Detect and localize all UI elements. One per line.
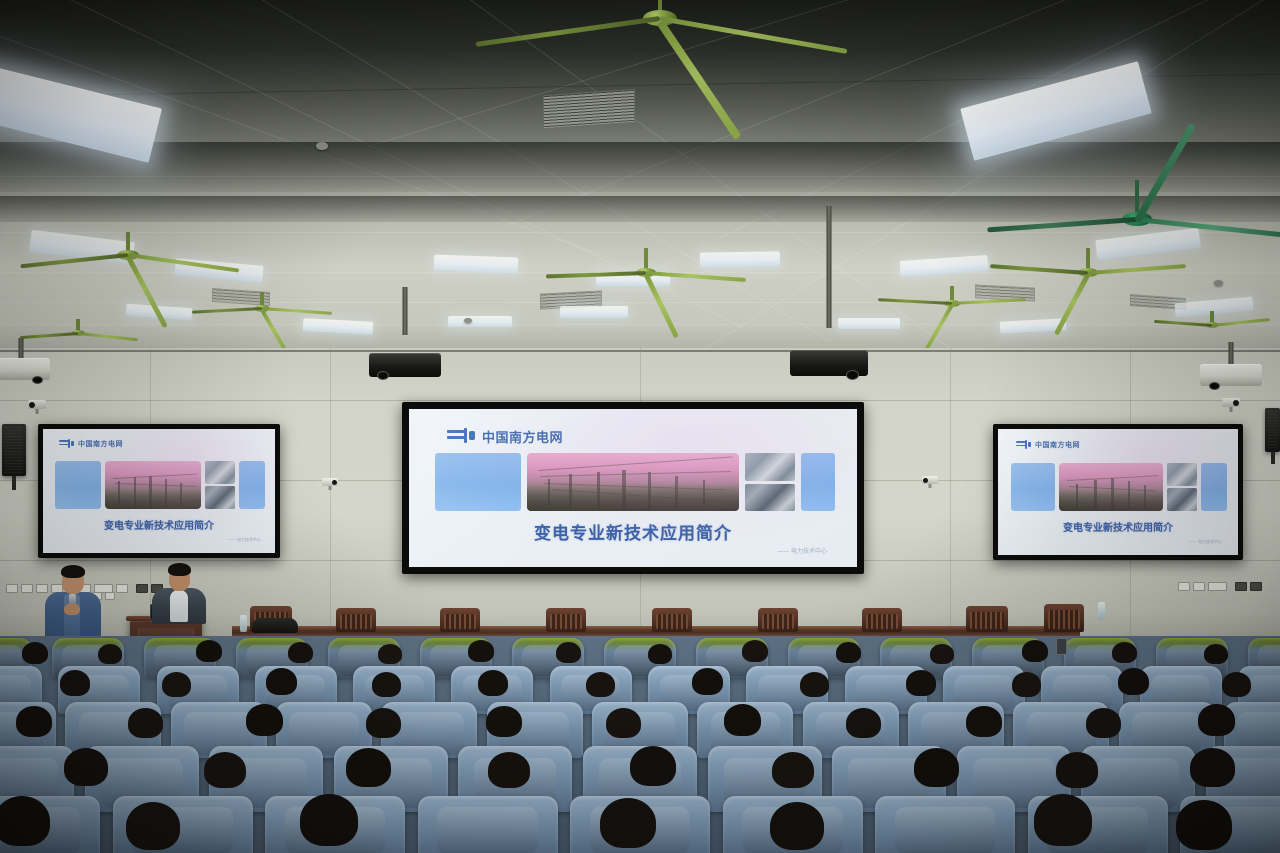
slide-blue-pane-right — [239, 461, 265, 509]
presenter-hand — [64, 604, 80, 615]
logo-mark-icon — [447, 428, 475, 445]
table-chair[interactable] — [758, 608, 798, 632]
logo-mark-icon — [59, 439, 74, 449]
audience-head — [366, 708, 401, 738]
audience-head — [16, 706, 52, 737]
audience-head — [1034, 794, 1092, 846]
slide-thumb-top — [205, 461, 235, 484]
audience-head — [1022, 640, 1048, 662]
table-chair[interactable] — [862, 608, 902, 632]
slide-subtitle: —— 电力技术中心 — [1189, 539, 1222, 545]
table-chair[interactable] — [966, 606, 1008, 632]
audience-head — [204, 752, 246, 788]
wall-camera-left — [28, 400, 46, 414]
table-chair[interactable] — [440, 608, 480, 632]
slide-title: 变电专业新技术应用简介 — [43, 517, 275, 532]
audience-head — [300, 794, 358, 846]
ceiling-light-panel — [303, 318, 374, 335]
audience-head — [162, 672, 191, 697]
presenter-at-podium — [150, 562, 208, 620]
slide-blue-pane-left — [1011, 463, 1055, 511]
ceiling-light-panel — [434, 255, 519, 274]
wall-camera-right — [1222, 398, 1240, 412]
audience-head — [22, 642, 48, 664]
slide-subtitle: —— 电力技术中心 — [228, 537, 261, 543]
audience-head — [1012, 672, 1041, 697]
wall-outlet-panel-right[interactable] — [1178, 582, 1262, 591]
audience-head — [486, 706, 522, 737]
table-chair[interactable] — [1044, 604, 1084, 632]
audience-head — [724, 704, 761, 736]
slide-blue-pane-left — [435, 453, 521, 511]
ceiling-light-panel — [700, 251, 780, 267]
slide-thumb-bottom — [1167, 488, 1197, 511]
audience-phone — [1056, 638, 1067, 655]
slide-thumb-bottom — [205, 486, 235, 509]
audience-head — [372, 672, 401, 697]
smoke-detector-icon — [464, 318, 472, 323]
audience-head — [556, 642, 581, 663]
auditorium-photo: 中国南方电网 — [0, 0, 1280, 853]
audience-head — [126, 802, 180, 850]
ceiling-light-panel — [1175, 297, 1254, 318]
ceiling-air-vent — [543, 89, 635, 129]
audience-seating — [0, 636, 1280, 853]
presenter-hair — [61, 565, 85, 578]
audience-head — [468, 640, 494, 662]
ceiling-light-panel — [560, 306, 628, 318]
slide-logo-text: 中国南方电网 — [78, 439, 123, 449]
logo-mark-icon — [1016, 440, 1031, 450]
ceiling-light-panel — [448, 316, 512, 327]
audience-head — [1176, 800, 1232, 850]
wall-camera-center-right — [922, 476, 938, 488]
seat[interactable] — [875, 796, 1015, 853]
ceiling-projector-center-right — [790, 302, 868, 366]
slide-left: 中国南方电网 — [43, 429, 275, 553]
audience-head — [1198, 704, 1235, 736]
table-chair[interactable] — [546, 608, 586, 632]
audience-head — [930, 644, 954, 664]
audience-head — [630, 746, 676, 786]
audience-head — [196, 640, 222, 662]
right-projection-screen[interactable]: 中国南方电网 — [993, 424, 1243, 560]
audience-head — [1086, 708, 1121, 738]
slide-main-photo — [527, 453, 739, 511]
water-bottle — [240, 615, 247, 632]
slide-logo-text: 中国南方电网 — [1035, 440, 1080, 450]
table-chair[interactable] — [652, 608, 692, 632]
slide-title: 变电专业新技术应用简介 — [998, 519, 1238, 534]
audience-head — [770, 802, 824, 850]
audience-head — [64, 748, 108, 786]
audience-head — [1190, 748, 1235, 787]
audience-head — [246, 704, 283, 736]
audience-head — [128, 708, 163, 738]
audience-head — [586, 672, 615, 697]
audience-head — [0, 796, 50, 846]
audience-head — [1056, 752, 1098, 788]
audience-head — [488, 752, 530, 788]
presenter-hair — [168, 563, 191, 576]
smoke-detector-icon — [1214, 280, 1223, 286]
audience-head — [60, 670, 90, 696]
ceiling-projector-left — [0, 352, 50, 388]
audience-head — [692, 668, 723, 695]
audience-head — [346, 748, 391, 787]
slide-blue-pane-right — [1201, 463, 1227, 511]
audience-head — [266, 668, 297, 695]
slide-main-photo — [105, 461, 201, 509]
slide-blue-pane-right — [801, 453, 835, 511]
audience-head — [772, 752, 814, 788]
audience-head — [1222, 672, 1251, 697]
center-projection-screen[interactable]: 中国南方电网 — [402, 402, 864, 574]
slide-subtitle: —— 电力技术中心 — [777, 546, 827, 555]
table-chair[interactable] — [336, 608, 376, 632]
ceiling-projector-center-left — [369, 305, 441, 367]
audience-head — [914, 748, 959, 787]
audience-head — [378, 644, 402, 664]
audience-head — [1204, 644, 1228, 664]
slide-right: 中国南方电网 — [998, 429, 1238, 555]
slide-thumb-top — [1167, 463, 1197, 486]
audience-head — [288, 642, 313, 663]
wall-speaker-right — [1265, 408, 1280, 452]
ceiling-light-panel — [900, 255, 989, 277]
audience-head — [98, 644, 122, 664]
audience-head — [742, 640, 768, 662]
audience-head — [966, 706, 1002, 737]
smoke-detector-icon — [316, 142, 328, 150]
water-bottle — [1098, 602, 1105, 620]
wall-speaker-left — [2, 424, 26, 476]
ceiling-projector-right — [1200, 358, 1262, 394]
seat[interactable] — [418, 796, 558, 853]
slide-blue-pane-left — [55, 461, 101, 509]
audience-head — [846, 708, 881, 738]
audience-head — [478, 670, 508, 696]
slide-center: 中国南方电网 — [409, 409, 857, 567]
audience-head — [1118, 668, 1149, 695]
slide-main-photo — [1059, 463, 1163, 511]
audience-head — [600, 798, 656, 848]
presenter-shirt — [170, 590, 188, 622]
left-projection-screen[interactable]: 中国南方电网 — [38, 424, 280, 558]
slide-logo-text: 中国南方电网 — [482, 427, 563, 446]
slide-title: 变电专业新技术应用简介 — [409, 519, 857, 544]
wall-camera-center-left — [322, 478, 338, 490]
ceiling — [0, 0, 1280, 352]
audience-head — [906, 670, 936, 696]
audience-head — [836, 642, 861, 663]
audience-head — [800, 672, 829, 697]
bag-on-table — [252, 618, 298, 633]
audience-head — [648, 644, 672, 664]
slide-thumb-bottom — [745, 484, 795, 512]
slide-thumb-top — [745, 453, 795, 481]
audience-head — [606, 708, 641, 738]
audience-head — [1112, 642, 1137, 663]
